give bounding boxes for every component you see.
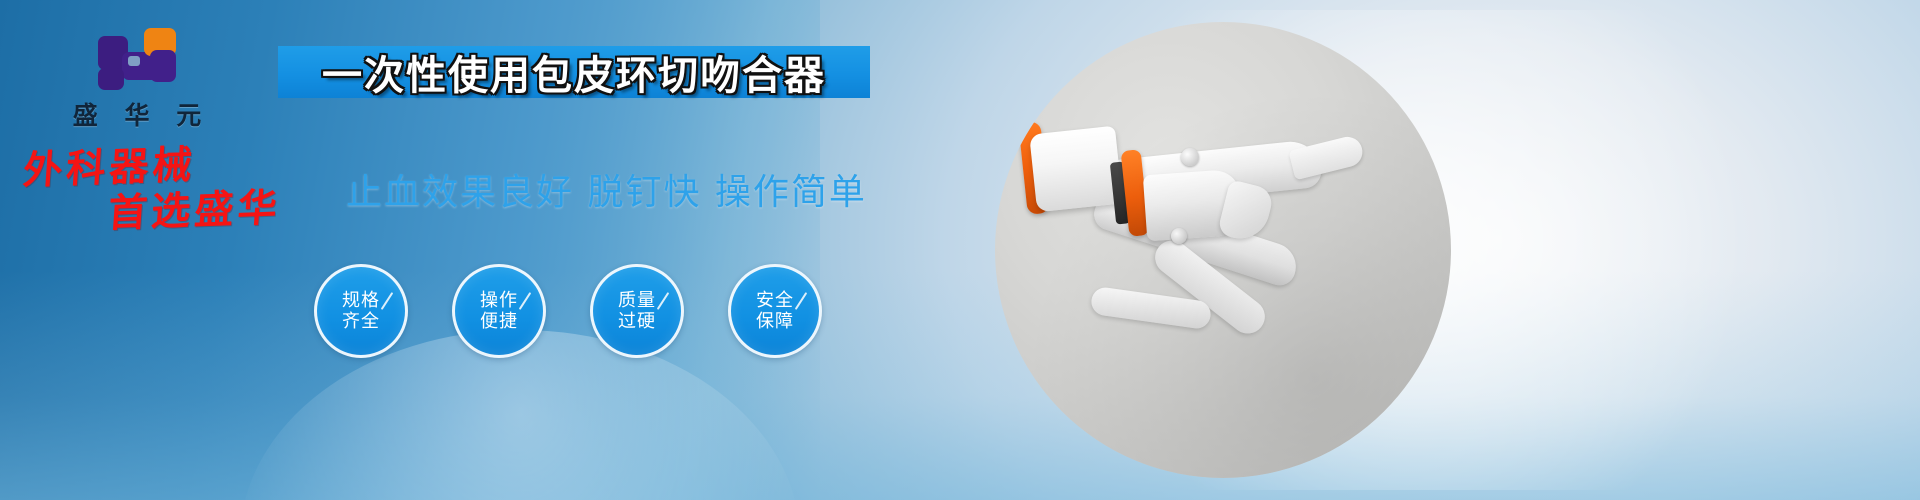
badge-line2: 便捷	[480, 311, 518, 332]
product-subtitle: 止血效果良好 脱钉快 操作简单	[346, 163, 867, 215]
product-image	[995, 22, 1451, 478]
feature-badge[interactable]: 操作 便捷	[452, 264, 546, 358]
feature-badge[interactable]: 质量 过硬	[590, 264, 684, 358]
red-slogan-line1: 外科器械	[22, 142, 198, 194]
brand-logo[interactable]: 盛 华 元	[62, 28, 212, 132]
badge-line1: 操作	[480, 290, 518, 311]
slash-icon	[519, 292, 532, 310]
product-title-bar: 一次性使用包皮环切吻合器	[278, 46, 870, 98]
page-title: 一次性使用包皮环切吻合器	[322, 43, 826, 101]
feature-badges: 规格 齐全 操作 便捷 质量 过硬 安全 保障	[314, 264, 822, 358]
red-slogan: 外科器械 首选盛华	[18, 140, 355, 237]
badge-line1: 安全	[756, 290, 794, 311]
slash-icon	[795, 292, 808, 310]
feature-badge[interactable]: 规格 齐全	[314, 264, 408, 358]
brand-name: 盛 华 元	[62, 96, 212, 132]
badge-line1: 规格	[342, 290, 380, 311]
promotional-banner: 盛 华 元 外科器械 首选盛华 一次性使用包皮环切吻合器 止血效果良好 脱钉快 …	[0, 0, 1920, 500]
badge-line2: 过硬	[618, 311, 656, 332]
shenghuayuan-blocks-logo-icon	[98, 28, 176, 90]
badge-line2: 齐全	[342, 311, 380, 332]
slash-icon	[381, 292, 394, 310]
badge-line1: 质量	[618, 290, 656, 311]
slash-icon	[657, 292, 670, 310]
product-shadow	[995, 22, 1451, 478]
feature-badge[interactable]: 安全 保障	[728, 264, 822, 358]
badge-line2: 保障	[756, 311, 794, 332]
